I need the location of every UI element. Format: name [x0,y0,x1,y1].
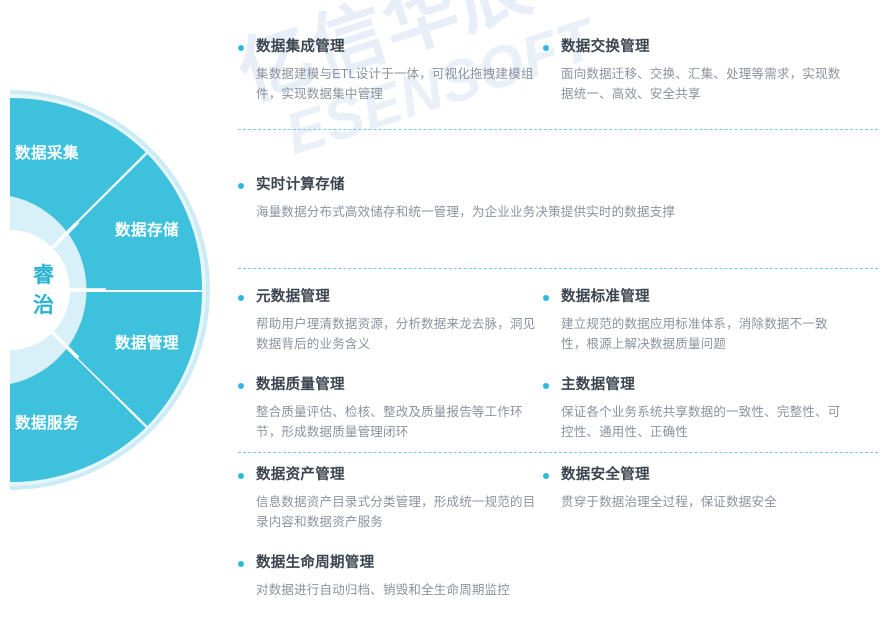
list-item[interactable]: 数据质量管理 整合质量评估、检核、整改及质量报告等工作环节，形成数据质量管理闭环 [236,376,541,442]
item-description: 集数据建模与ETL设计于一体，可视化拖拽建模组件，实现数据集中管理 [256,64,538,105]
core-label-char-2: 治 [33,293,55,317]
section-divider [238,129,878,130]
bullet-icon [238,473,244,479]
bullet-icon [238,295,244,301]
item-title: 数据资产管理 [256,466,541,485]
content-panel: 数据集成管理 集数据建模与ETL设计于一体，可视化拖拽建模组件，实现数据集中管理… [236,0,896,627]
segment-label-manage: 数据管理 [115,333,179,352]
bullet-icon [543,295,549,301]
item-title: 数据集成管理 [256,38,541,57]
item-description: 信息数据资产目录式分类管理，形成统一规范的目录内容和数据资产服务 [256,492,538,533]
item-description: 面向数据迁移、交换、汇集、处理等需求，实现数据统一、高效、安全共享 [561,64,843,105]
bullet-icon [543,383,549,389]
item-title: 数据质量管理 [256,376,541,395]
list-item[interactable]: 实时计算存储 海量数据分布式高效储存和统一管理，为企业业务决策提供实时的数据支撑 [236,176,878,222]
item-title: 数据安全管理 [561,466,846,485]
item-title: 主数据管理 [561,376,846,395]
item-description: 帮助用户理清数据资源，分析数据来龙去脉，洞见数据背后的业务含义 [256,314,538,355]
bullet-icon [543,473,549,479]
group-manage-col-left: 元数据管理 帮助用户理清数据资源，分析数据来龙去脉，洞见数据背后的业务含义 数据… [236,288,541,443]
item-title: 实时计算存储 [256,176,878,195]
group-storage-col-left: 实时计算存储 海量数据分布式高效储存和统一管理，为企业业务决策提供实时的数据支撑 [236,176,878,222]
segment-label-storage: 数据存储 [115,220,179,239]
item-title: 数据标准管理 [561,288,846,307]
list-item[interactable]: 数据安全管理 贯穿于数据治理全过程，保证数据安全 [541,466,846,512]
group-collect-col-left: 数据集成管理 集数据建模与ETL设计于一体，可视化拖拽建模组件，实现数据集中管理 [236,38,541,104]
group-collect: 数据集成管理 集数据建模与ETL设计于一体，可视化拖拽建模组件，实现数据集中管理… [236,38,878,104]
bullet-icon [238,383,244,389]
group-manage: 元数据管理 帮助用户理清数据资源，分析数据来龙去脉，洞见数据背后的业务含义 数据… [236,288,878,443]
list-item[interactable]: 数据标准管理 建立规范的数据应用标准体系，消除数据不一致性，根源上解决数据质量问… [541,288,846,354]
bullet-icon [543,45,549,51]
item-description: 整合质量评估、检核、整改及质量报告等工作环节，形成数据质量管理闭环 [256,402,538,443]
list-item[interactable]: 主数据管理 保证各个业务系统共享数据的一致性、完整性、可控性、通用性、正确性 [541,376,846,442]
section-divider [238,452,878,453]
bullet-icon [238,45,244,51]
core-label-char-1: 睿 [33,264,55,287]
semicircle-diagram: 睿 治 数据采集 数据存储 数据管理 数据服务 [0,90,236,490]
list-item[interactable]: 数据集成管理 集数据建模与ETL设计于一体，可视化拖拽建模组件，实现数据集中管理 [236,38,541,104]
group-service-col-right: 数据安全管理 贯穿于数据治理全过程，保证数据安全 [541,466,846,600]
segment-label-service: 数据服务 [15,413,79,432]
list-item[interactable]: 元数据管理 帮助用户理清数据资源，分析数据来龙去脉，洞见数据背后的业务含义 [236,288,541,354]
group-service: 数据资产管理 信息数据资产目录式分类管理，形成统一规范的目录内容和数据资产服务 … [236,466,878,600]
item-description: 海量数据分布式高效储存和统一管理，为企业业务决策提供实时的数据支撑 [256,202,856,222]
group-collect-col-right: 数据交换管理 面向数据迁移、交换、汇集、处理等需求，实现数据统一、高效、安全共享 [541,38,846,104]
item-description: 建立规范的数据应用标准体系，消除数据不一致性，根源上解决数据质量问题 [561,314,843,355]
item-title: 数据交换管理 [561,38,846,57]
item-description: 保证各个业务系统共享数据的一致性、完整性、可控性、通用性、正确性 [561,402,843,443]
list-item[interactable]: 数据资产管理 信息数据资产目录式分类管理，形成统一规范的目录内容和数据资产服务 [236,466,541,532]
list-item[interactable]: 数据交换管理 面向数据迁移、交换、汇集、处理等需求，实现数据统一、高效、安全共享 [541,38,846,104]
bullet-icon [238,183,244,189]
segment-label-collect: 数据采集 [15,143,79,162]
item-title: 元数据管理 [256,288,541,307]
item-title: 数据生命周期管理 [256,554,541,573]
bullet-icon [238,561,244,567]
item-description: 贯穿于数据治理全过程，保证数据安全 [561,492,843,512]
group-manage-col-right: 数据标准管理 建立规范的数据应用标准体系，消除数据不一致性，根源上解决数据质量问… [541,288,846,443]
item-description: 对数据进行自动归档、销毁和全生命周期监控 [256,580,541,600]
group-service-col-left: 数据资产管理 信息数据资产目录式分类管理，形成统一规范的目录内容和数据资产服务 … [236,466,541,600]
group-storage: 实时计算存储 海量数据分布式高效储存和统一管理，为企业业务决策提供实时的数据支撑 [236,176,878,222]
section-divider [238,268,878,269]
list-item[interactable]: 数据生命周期管理 对数据进行自动归档、销毁和全生命周期监控 [236,554,541,600]
